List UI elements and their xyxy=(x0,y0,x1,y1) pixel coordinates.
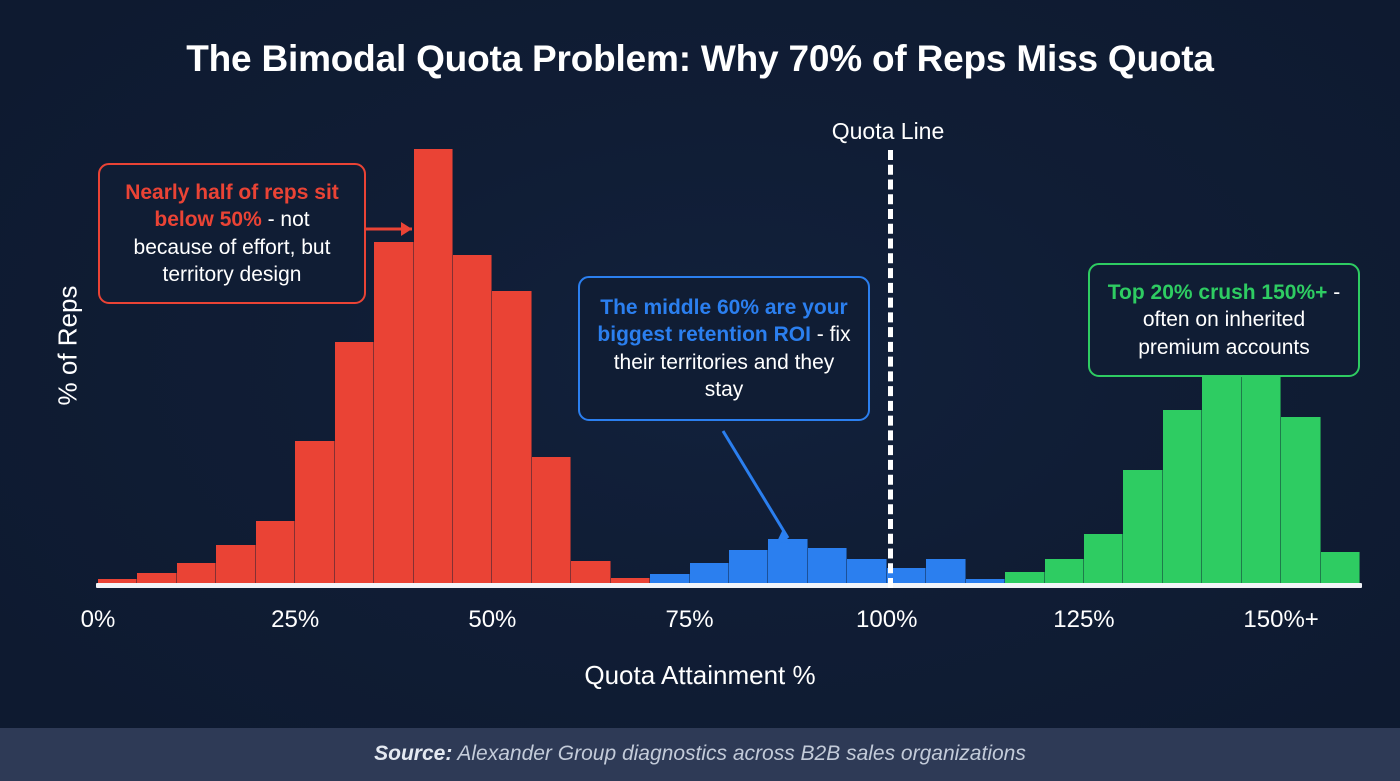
histogram-bar xyxy=(177,563,216,583)
histogram-bar xyxy=(1084,534,1123,583)
histogram-bar xyxy=(808,548,847,583)
histogram-bar xyxy=(492,291,531,583)
x-tick-label: 0% xyxy=(81,606,116,634)
x-axis-label: Quota Attainment % xyxy=(0,660,1400,691)
x-tick-label: 150%+ xyxy=(1243,606,1318,634)
source-label: Source: xyxy=(374,742,452,765)
histogram-bar xyxy=(374,242,413,583)
histogram-bar xyxy=(137,573,176,583)
histogram-bar xyxy=(768,539,807,583)
quota-line-marker xyxy=(888,150,893,588)
source-note: Source: Alexander Group diagnostics acro… xyxy=(0,742,1400,766)
histogram-bar xyxy=(1045,559,1084,583)
x-tick-label: 75% xyxy=(666,606,714,634)
histogram-bar xyxy=(1005,572,1044,583)
histogram-bar xyxy=(1321,552,1360,583)
chart-title: The Bimodal Quota Problem: Why 70% of Re… xyxy=(0,38,1400,80)
x-tick-label: 50% xyxy=(468,606,516,634)
x-axis-line xyxy=(96,583,1362,588)
histogram-bar xyxy=(690,563,729,583)
histogram-bar xyxy=(926,559,965,583)
x-tick-label: 25% xyxy=(271,606,319,634)
annotation-red-below-50: Nearly half of reps sit below 50% - not … xyxy=(98,163,366,304)
histogram-bar xyxy=(1123,470,1162,583)
histogram-bar xyxy=(847,559,886,583)
source-text: Alexander Group diagnostics across B2B s… xyxy=(452,742,1026,765)
histogram-bar xyxy=(1281,417,1320,583)
histogram-bar xyxy=(532,457,571,583)
histogram-bar xyxy=(216,545,255,583)
histogram-bar xyxy=(335,342,374,583)
annotation-green-top-20: Top 20% crush 150%+ - often on inherited… xyxy=(1088,263,1360,377)
histogram-bar xyxy=(295,441,334,583)
histogram-bar xyxy=(729,550,768,583)
x-tick-label: 100% xyxy=(856,606,917,634)
histogram-bar xyxy=(650,574,689,583)
quota-line-label: Quota Line xyxy=(832,118,945,145)
y-axis-label: % of Reps xyxy=(53,246,84,446)
chart-canvas: The Bimodal Quota Problem: Why 70% of Re… xyxy=(0,0,1400,781)
annotation-green-highlight: Top 20% crush 150%+ xyxy=(1108,281,1328,304)
histogram-bar xyxy=(414,149,453,583)
histogram-bar xyxy=(1163,410,1202,583)
annotation-blue-middle-60: The middle 60% are your biggest retentio… xyxy=(578,276,870,421)
histogram-bar xyxy=(571,561,610,583)
histogram-bar xyxy=(453,255,492,583)
histogram-bar xyxy=(256,521,295,583)
x-axis-ticks: 0%25%50%75%100%125%150%+ xyxy=(98,606,1360,644)
x-tick-label: 125% xyxy=(1053,606,1114,634)
